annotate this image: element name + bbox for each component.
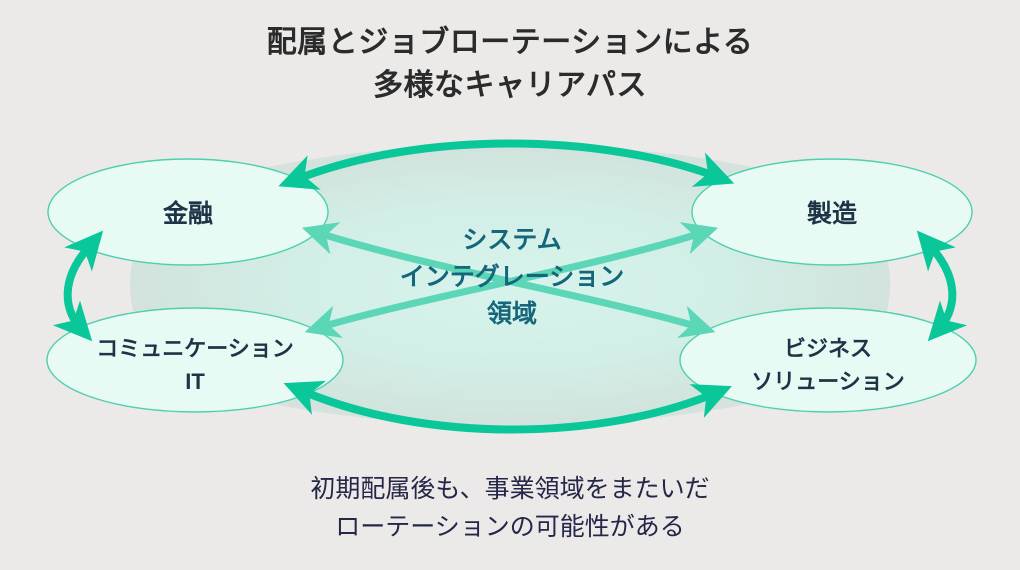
center-label-line2: インテグレーション	[400, 263, 625, 291]
page-caption: 初期配属後も、事業領域をまたいだ ローテーションの可能性がある	[0, 470, 1020, 546]
node-communication-it-label-line2: IT	[185, 369, 205, 394]
node-finance[interactable]: 金融	[48, 159, 328, 265]
node-business-solution-label-line1: ビジネス	[784, 336, 872, 361]
node-business-solution[interactable]: ビジネス ソリューション	[680, 308, 976, 412]
arrow-left-arc	[68, 248, 88, 330]
node-manufacturing-label: 製造	[806, 200, 857, 228]
node-communication-it[interactable]: コミュニケーション IT	[47, 308, 343, 412]
arrow-right-arc	[932, 248, 952, 330]
center-label-line1: システム	[462, 226, 561, 254]
node-finance-label: 金融	[162, 199, 213, 228]
center-label-line3: 領域	[487, 299, 537, 328]
node-communication-it-label-line1: コミュニケーション	[96, 336, 294, 361]
diagram-canvas: 配属とジョブローテーションによる 多様なキャリアパス	[0, 0, 1020, 570]
node-manufacturing[interactable]: 製造	[692, 159, 972, 265]
node-business-solution-label-line2: ソリューション	[751, 369, 905, 394]
